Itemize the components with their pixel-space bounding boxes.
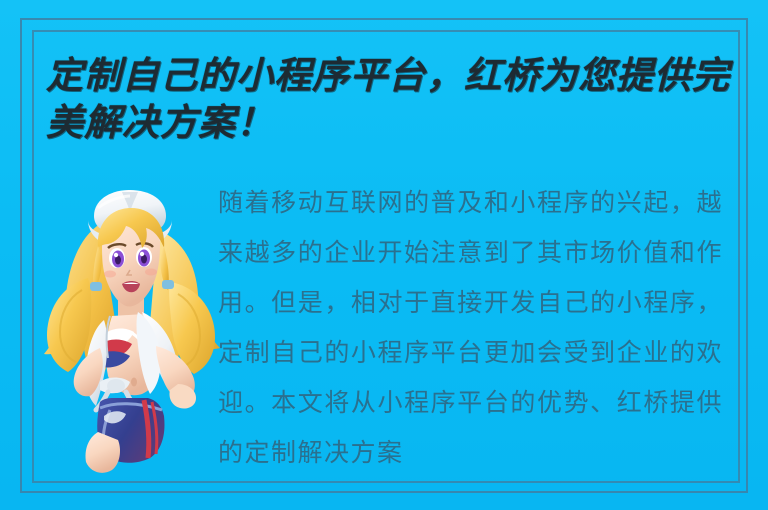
blush-left [104, 271, 116, 278]
navel [131, 378, 137, 387]
anime-girl-sailor-character-illustration [38, 186, 223, 476]
headline-title: 定制自己的小程序平台，红桥为您提供完美解决方案！ [46, 52, 746, 146]
body-paragraph: 随着移动互联网的普及和小程序的兴起，越来越多的企业开始注意到了其市场价值和作用。… [218, 178, 723, 478]
hair-tie-right [162, 280, 174, 289]
blush-right [145, 269, 157, 276]
promo-banner: 定制自己的小程序平台，红桥为您提供完美解决方案！ [0, 0, 768, 510]
hair-tie-left [90, 282, 102, 291]
